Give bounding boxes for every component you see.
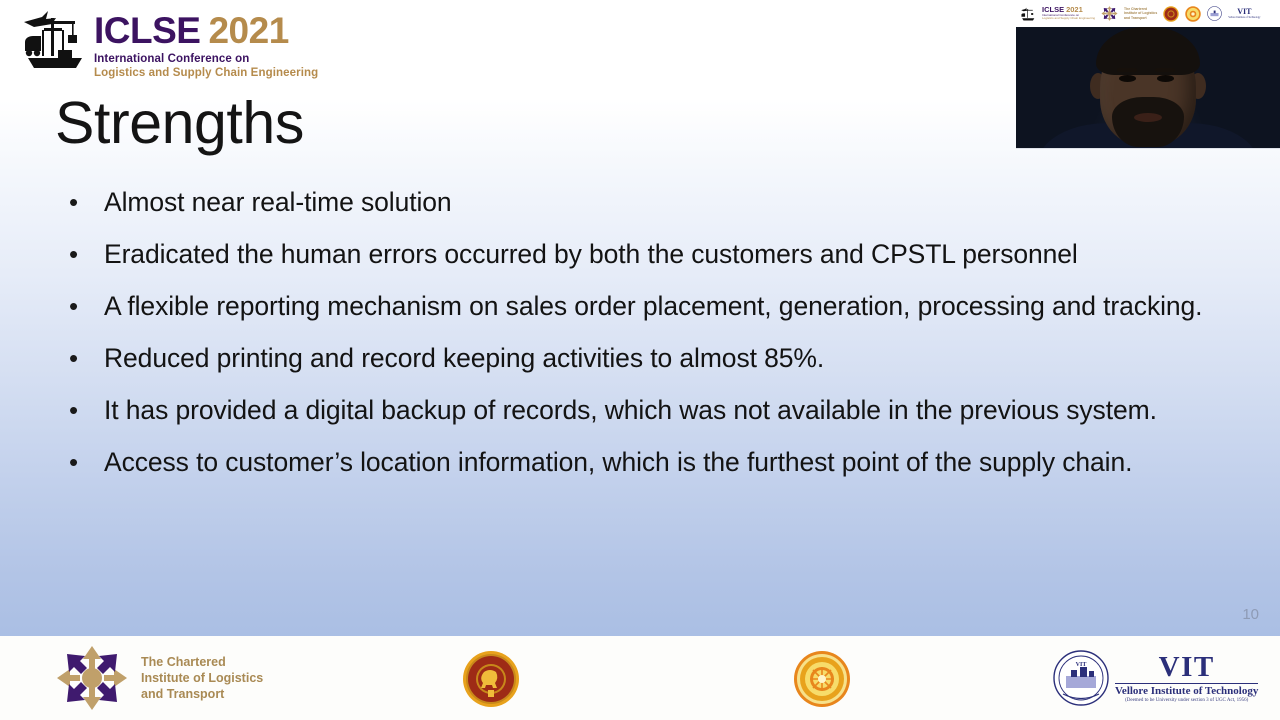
logo-acronym: ICLSE xyxy=(94,10,200,51)
bullet-marker-icon: • xyxy=(62,443,104,481)
vit-acronym: VIT xyxy=(1159,653,1215,682)
presenter-eyebrow-right xyxy=(1155,68,1175,72)
logo-subtitle-line-1: International Conference on xyxy=(94,53,318,65)
vit-full-name: Vellore Institute of Technology xyxy=(1115,683,1258,697)
vit-disclaimer: (Deemed to be University under section 3… xyxy=(1125,698,1248,703)
list-item-text: Almost near real-time solution xyxy=(104,183,452,221)
logistics-illustration-icon xyxy=(1020,7,1036,21)
banner-iclse-logo: ICLSE 2021 International Conference on L… xyxy=(1042,6,1095,20)
cilt-line-3: and Transport xyxy=(141,686,263,702)
list-item-text: It has provided a digital backup of reco… xyxy=(104,391,1157,429)
bullet-marker-icon: • xyxy=(62,183,104,221)
vit-name-block: VIT Vellore Institute of Technology (Dee… xyxy=(1115,653,1258,703)
list-item: • Access to customer’s location informat… xyxy=(62,443,1212,481)
vit-logo: VIT VIT Vellore Institute of Technology … xyxy=(1053,650,1258,706)
list-item-text: Reduced printing and record keeping acti… xyxy=(104,339,824,377)
banner-vit-full-name: Vellore Institute of Technology xyxy=(1228,16,1260,19)
list-item: • A flexible reporting mechanism on sale… xyxy=(62,287,1212,325)
university-lion-seal-logo xyxy=(462,650,520,713)
list-item-text: A flexible reporting mechanism on sales … xyxy=(104,287,1202,325)
presenter-mouth xyxy=(1134,113,1162,122)
logo-year: 2021 xyxy=(208,10,288,51)
presentation-slide: ICLSE2021 International Conference on Lo… xyxy=(0,0,1280,720)
vit-seal-icon: VIT xyxy=(1053,650,1109,706)
slide-page-number: 10 xyxy=(1242,606,1259,623)
banner-cilt-name: The Chartered Institute of Logistics and… xyxy=(1124,7,1157,19)
iclse-conference-logo: ICLSE2021 International Conference on Lo… xyxy=(22,8,318,79)
logo-title-row: ICLSE2021 xyxy=(94,12,318,49)
list-item: • Almost near real-time solution xyxy=(62,183,1212,221)
lion-seal-icon xyxy=(1163,6,1179,22)
cilt-name-block: The Chartered Institute of Logistics and… xyxy=(141,654,263,702)
cilt-line-1: The Chartered xyxy=(141,654,263,670)
logo-subtitle-line-2: Logistics and Supply Chain Engineering xyxy=(94,67,318,79)
page-title: Strengths xyxy=(55,93,304,155)
compass-arrows-icon xyxy=(55,644,129,712)
presenter-video-image xyxy=(1016,27,1280,149)
cilt-logo: The Chartered Institute of Logistics and… xyxy=(55,644,263,712)
presenter-eye-right xyxy=(1157,75,1174,82)
vit-seal-icon xyxy=(1207,6,1222,21)
compass-arrows-icon xyxy=(1101,5,1118,22)
university-sun-wheel-seal-logo xyxy=(793,650,851,713)
sun-wheel-seal-icon xyxy=(793,650,851,708)
list-item: • Eradicated the human errors occurred b… xyxy=(62,235,1212,273)
list-item: • It has provided a digital backup of re… xyxy=(62,391,1212,429)
presenter-hair xyxy=(1096,27,1200,75)
banner-vit-acronym: VIT xyxy=(1237,8,1251,16)
bullet-marker-icon: • xyxy=(62,391,104,429)
svg-text:VIT: VIT xyxy=(1076,662,1087,668)
banner-cilt-line-3: and Transport xyxy=(1124,16,1157,20)
webcam-presenter-feed[interactable]: ICLSE 2021 International Conference on L… xyxy=(1016,0,1280,149)
list-item-text: Access to customer’s location informatio… xyxy=(104,443,1132,481)
bullet-list: • Almost near real-time solution • Eradi… xyxy=(62,183,1212,495)
banner-logo-line-2: Logistics and Supply Chain Engineering xyxy=(1042,17,1095,20)
bullet-marker-icon: • xyxy=(62,287,104,325)
list-item: • Reduced printing and record keeping ac… xyxy=(62,339,1212,377)
banner-cilt-line-2: Institute of Logistics xyxy=(1124,11,1157,15)
bullet-marker-icon: • xyxy=(62,339,104,377)
sun-wheel-seal-icon xyxy=(1185,6,1201,22)
cilt-line-2: Institute of Logistics xyxy=(141,670,263,686)
logistics-illustration-icon xyxy=(22,8,86,70)
list-item-text: Eradicated the human errors occurred by … xyxy=(104,235,1078,273)
webcam-backdrop-banner: ICLSE 2021 International Conference on L… xyxy=(1016,0,1280,27)
bullet-marker-icon: • xyxy=(62,235,104,273)
footer-sponsor-bar: The Chartered Institute of Logistics and… xyxy=(0,636,1280,720)
presenter-eye-left xyxy=(1119,75,1136,82)
presenter-beard xyxy=(1112,97,1184,147)
banner-vit-name: VIT Vellore Institute of Technology xyxy=(1228,8,1260,19)
lion-seal-icon xyxy=(462,650,520,708)
presenter-eyebrow-left xyxy=(1117,68,1137,72)
